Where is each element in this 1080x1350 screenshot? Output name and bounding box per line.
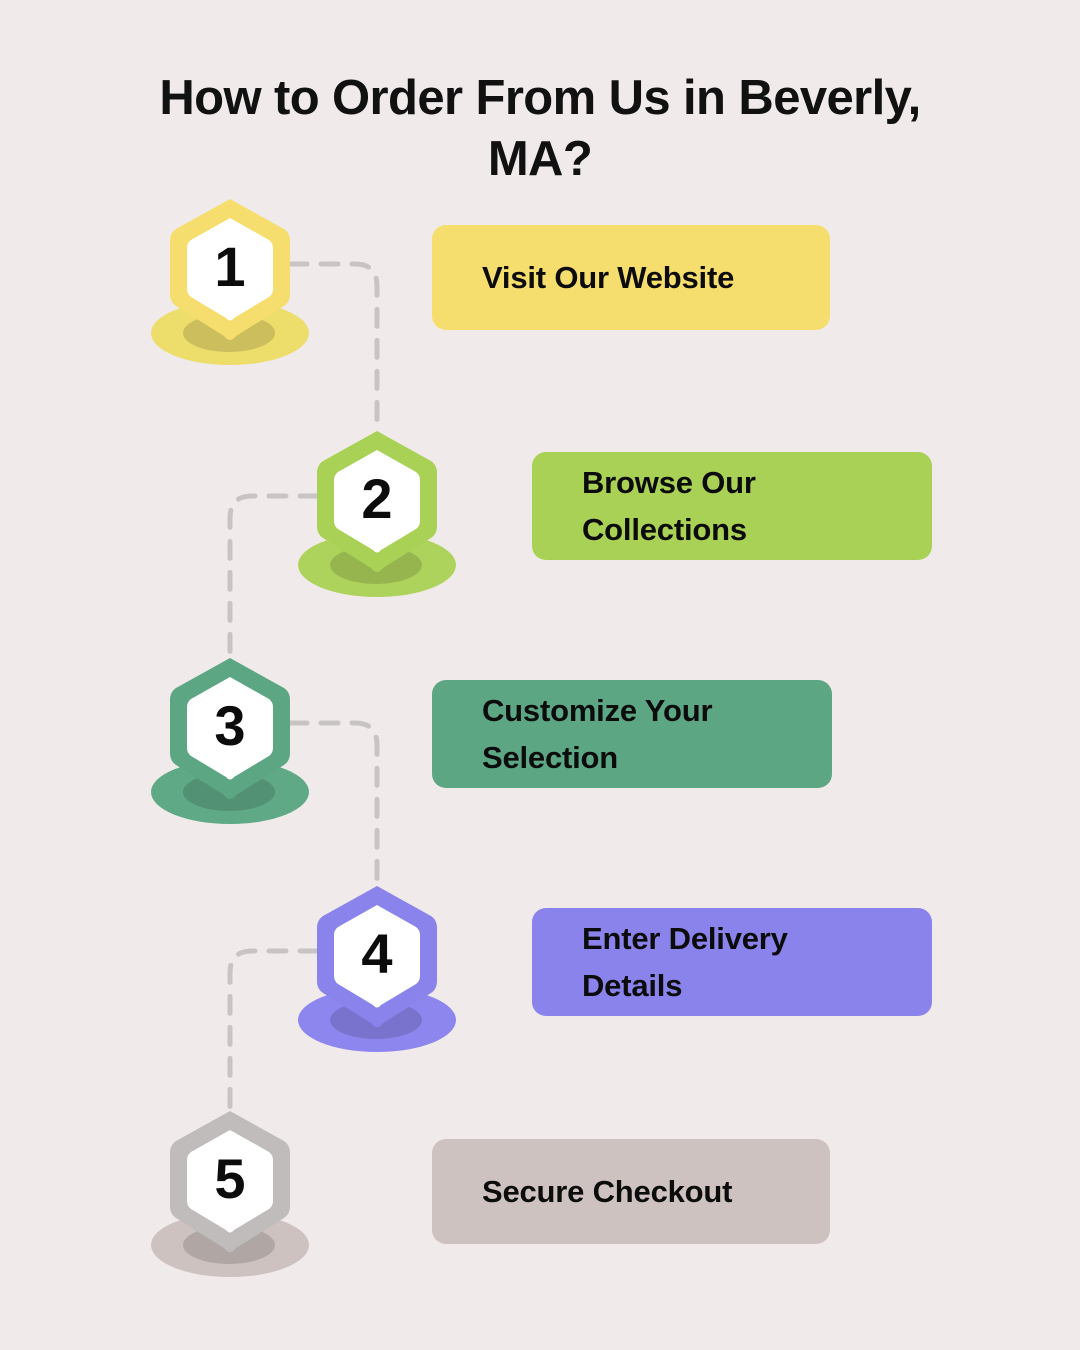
step-marker-1[interactable]: 1	[145, 196, 315, 371]
step-marker-3[interactable]: 3	[145, 655, 315, 830]
step-marker-4[interactable]: 4	[292, 883, 462, 1058]
step-number-1: 1	[166, 196, 294, 338]
step-label-box-5[interactable]: Secure Checkout	[432, 1139, 830, 1244]
step-label-box-4[interactable]: Enter Delivery Details	[532, 908, 932, 1016]
order-steps-infographic: How to Order From Us in Beverly, MA? 1Vi…	[0, 0, 1080, 1350]
step-label-box-3[interactable]: Customize Your Selection	[432, 680, 832, 788]
step-label-text-5: Secure Checkout	[482, 1168, 732, 1215]
step-label-box-1[interactable]: Visit Our Website	[432, 225, 830, 330]
step-label-text-2: Browse Our Collections	[582, 459, 842, 553]
step-marker-2[interactable]: 2	[292, 428, 462, 603]
step-label-text-3: Customize Your Selection	[482, 687, 742, 781]
step-label-text-4: Enter Delivery Details	[582, 915, 842, 1009]
steps-list: 1Visit Our Website2Browse Our Collection…	[0, 0, 1080, 1350]
step-label-box-2[interactable]: Browse Our Collections	[532, 452, 932, 560]
step-marker-5[interactable]: 5	[145, 1108, 315, 1283]
step-number-2: 2	[313, 428, 441, 570]
step-number-3: 3	[166, 655, 294, 797]
step-number-5: 5	[166, 1108, 294, 1250]
step-label-text-1: Visit Our Website	[482, 254, 734, 301]
step-number-4: 4	[313, 883, 441, 1025]
